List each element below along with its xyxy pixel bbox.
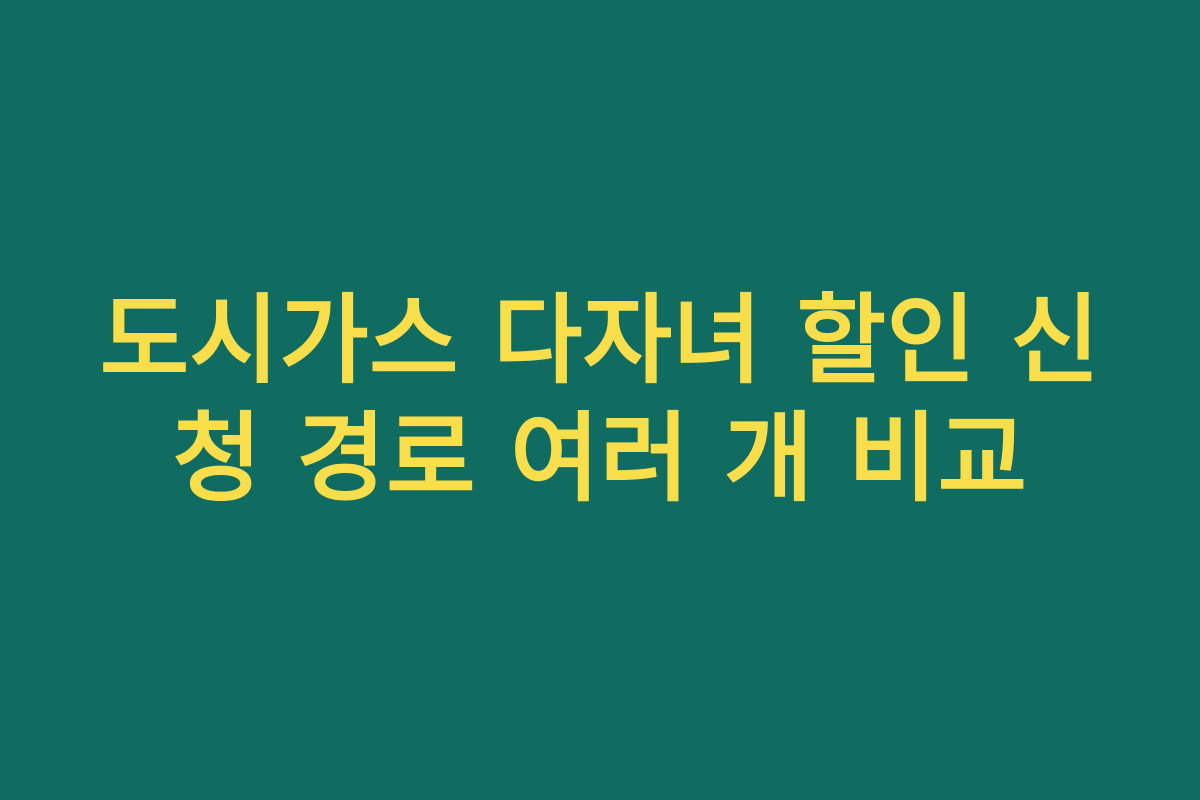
banner-canvas: 도시가스 다자녀 할인 신 청 경로 여러 개 비교 — [0, 0, 1200, 800]
headline-text: 도시가스 다자녀 할인 신 청 경로 여러 개 비교 — [0, 282, 1200, 519]
